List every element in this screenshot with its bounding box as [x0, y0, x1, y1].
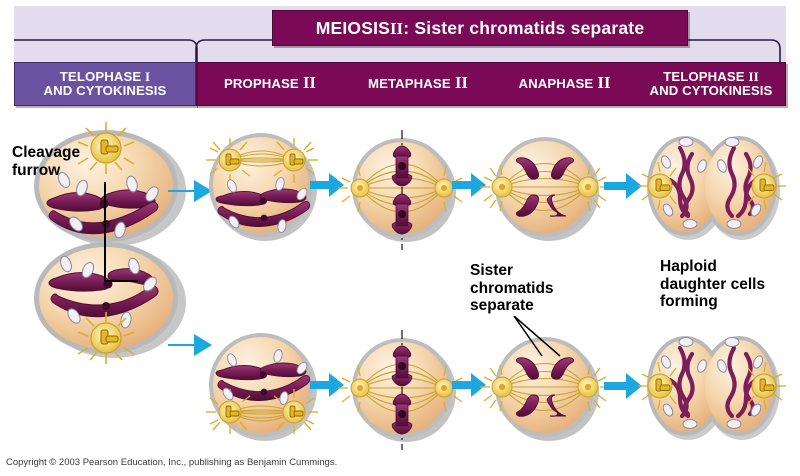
band-label-metaphase: METAPHASE — [368, 76, 451, 91]
title-prefix: MEIOSIS — [316, 18, 390, 38]
title-banner: MEIOSISII: Sister chromatids separate — [272, 10, 688, 46]
cell-prophase-ii-top — [204, 128, 320, 244]
cell-metaphase-ii-bottom — [344, 328, 464, 452]
band-label-line1: TELOPHASE I — [44, 70, 167, 85]
phase-band-telophase-i[interactable]: TELOPHASE I AND CYTOKINESIS — [14, 62, 196, 106]
band-label-anaphase: ANAPHASE — [518, 76, 593, 91]
cell-telophase-ii-top — [646, 128, 786, 246]
band-label-prophase: PROPHASE — [224, 76, 299, 91]
band-label-t2-line2: AND CYTOKINESIS — [637, 84, 785, 99]
title-numeral: II — [390, 19, 403, 38]
bracket-telophase1 — [14, 38, 204, 64]
phase-band-prophase-ii[interactable]: PROPHASE II — [196, 76, 344, 92]
label-cleavage-furrow: Cleavage furrow — [12, 144, 80, 179]
band-label-t2-line1: TELOPHASE II — [637, 70, 785, 85]
label-haploid-daughter-cells: Haploid daughter cells forming — [660, 258, 765, 311]
cell-anaphase-ii-top — [486, 128, 608, 250]
phase-band-anaphase-ii[interactable]: ANAPHASE II — [492, 76, 637, 92]
cell-prophase-ii-bottom — [204, 328, 320, 444]
copyright-text: Copyright © 2003 Pearson Education, Inc.… — [6, 457, 337, 468]
title-suffix: : Sister chromatids separate — [403, 18, 644, 38]
band-label-line2: AND CYTOKINESIS — [44, 84, 167, 99]
leader-cleavage-furrow-vertical — [104, 182, 106, 281]
title-banner-text: MEIOSISII: Sister chromatids separate — [316, 18, 645, 39]
phase-band-telophase-ii[interactable]: TELOPHASE II AND CYTOKINESIS — [637, 70, 785, 99]
phase-band-meiosis-ii-group: PROPHASE II METAPHASE II ANAPHASE II TEL… — [195, 62, 786, 106]
leader-sister-chromatids — [512, 316, 592, 365]
label-sister-chromatids-separate: Sister chromatids separate — [470, 262, 554, 315]
leader-cleavage-furrow-horizontal — [104, 280, 138, 282]
cell-metaphase-ii-top — [344, 128, 464, 252]
arrow-anaphase2-to-telophase2-bottom — [604, 372, 642, 405]
arrow-anaphase2-to-telophase2-top — [604, 172, 642, 205]
phase-band-metaphase-ii[interactable]: METAPHASE II — [344, 76, 492, 92]
phase-band-row: TELOPHASE I AND CYTOKINESIS PROPHASE II … — [14, 62, 786, 106]
figure-root: MEIOSISII: Sister chromatids separate TE… — [0, 0, 800, 476]
cell-telophase-ii-bottom — [646, 328, 786, 446]
